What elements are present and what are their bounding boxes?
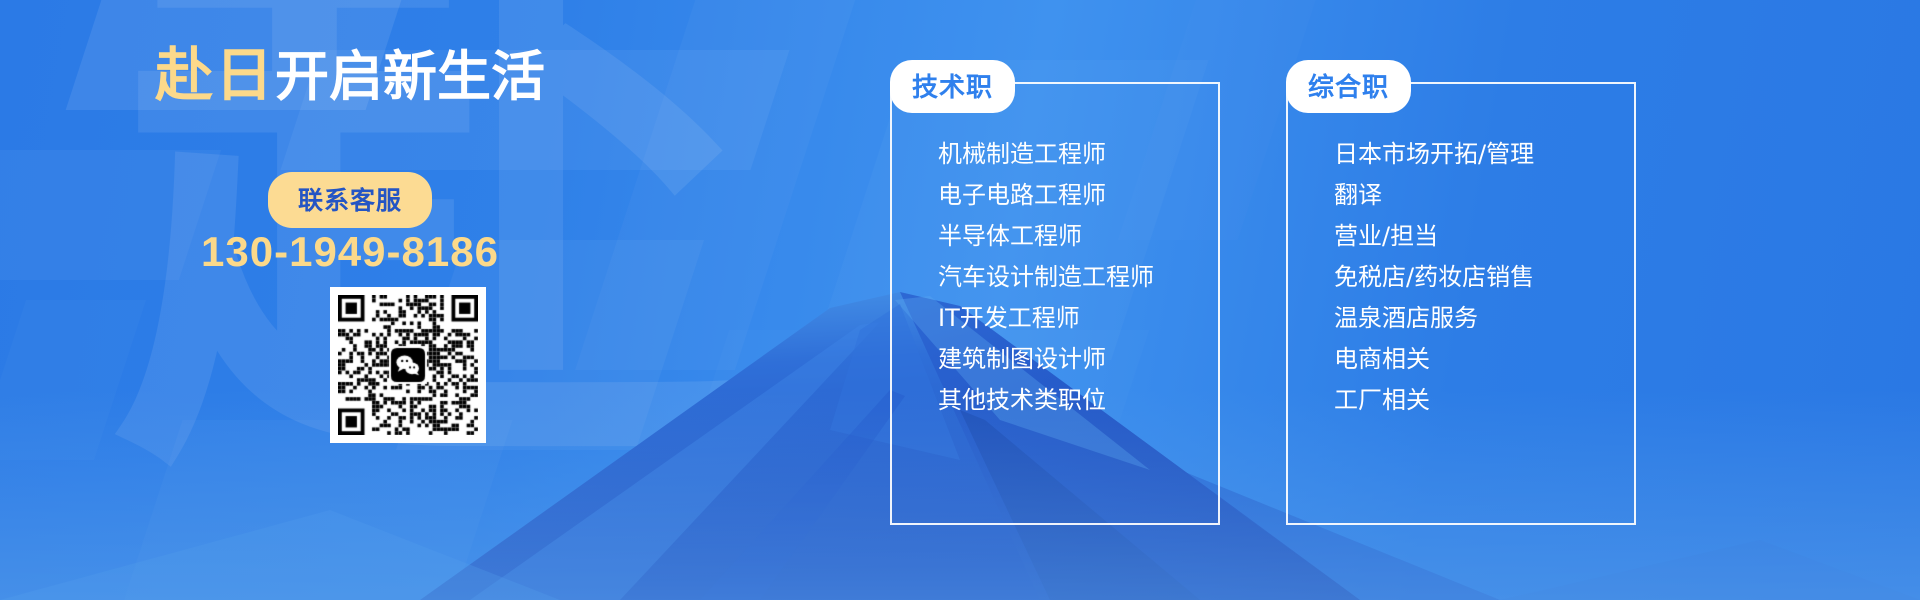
list-item[interactable]: 电商相关 xyxy=(1334,347,1534,371)
list-item[interactable]: 汽车设计制造工程师 xyxy=(938,265,1154,289)
list-item[interactable]: 免税店/药妆店销售 xyxy=(1334,265,1534,289)
qr-canvas xyxy=(338,295,478,435)
cta-container: 联系客服 xyxy=(0,172,700,228)
list-item[interactable]: 日本市场开拓/管理 xyxy=(1334,142,1534,166)
badge-technical[interactable]: 技术职 xyxy=(890,60,1015,113)
headline-rest: 开启新生活 xyxy=(275,45,545,108)
list-item[interactable]: 半导体工程师 xyxy=(938,224,1154,248)
contact-support-button[interactable]: 联系客服 xyxy=(268,172,432,228)
promo-block: 赴日开启新生活 联系客服 130-1949-8186 xyxy=(0,0,700,600)
recruitment-banner: 赴 xyxy=(0,0,1920,600)
general-job-list: 日本市场开拓/管理 翻译 营业/担当 免税店/药妆店销售 温泉酒店服务 电商相关… xyxy=(1334,142,1534,429)
phone-number[interactable]: 130-1949-8186 xyxy=(0,228,700,276)
technical-job-list: 机械制造工程师 电子电路工程师 半导体工程师 汽车设计制造工程师 IT开发工程师… xyxy=(938,142,1154,429)
badge-general[interactable]: 综合职 xyxy=(1286,60,1411,113)
list-item[interactable]: 其他技术类职位 xyxy=(938,388,1154,412)
headline: 赴日开启新生活 xyxy=(0,44,700,108)
list-item[interactable]: 营业/担当 xyxy=(1334,224,1534,248)
list-item[interactable]: 翻译 xyxy=(1334,183,1534,207)
list-item[interactable]: IT开发工程师 xyxy=(938,306,1154,330)
list-item[interactable]: 机械制造工程师 xyxy=(938,142,1154,166)
list-item[interactable]: 温泉酒店服务 xyxy=(1334,306,1534,330)
list-item[interactable]: 电子电路工程师 xyxy=(938,183,1154,207)
list-item[interactable]: 建筑制图设计师 xyxy=(938,347,1154,371)
headline-accent: 赴日 xyxy=(155,41,275,109)
wechat-qr-code[interactable] xyxy=(330,287,486,443)
list-item[interactable]: 工厂相关 xyxy=(1334,388,1534,412)
